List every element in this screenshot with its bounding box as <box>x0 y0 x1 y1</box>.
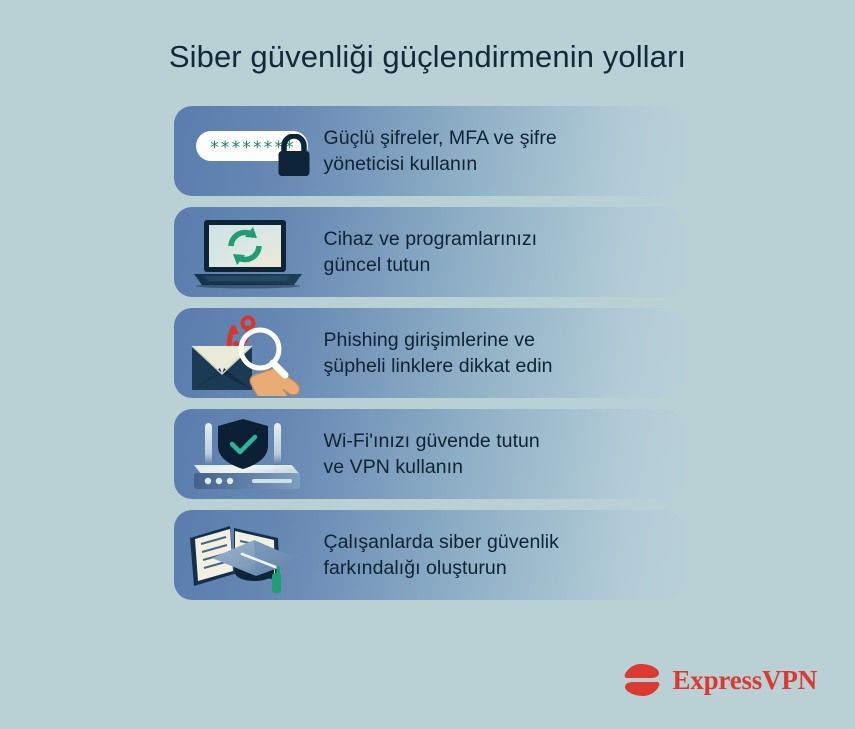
list-item: Wi-Fi'ınızı güvende tutun ve VPN kullanı… <box>174 409 682 499</box>
list-item-label: Cihaz ve programlarınızı güncel tutun <box>324 226 550 279</box>
phishing-email-magnifier-icon <box>174 308 324 398</box>
password-lock-icon: ******** <box>174 106 324 196</box>
lock-icon <box>276 134 312 178</box>
list-item: Cihaz ve programlarınızı güncel tutun <box>174 207 682 297</box>
wifi-router-icon <box>182 415 322 495</box>
list-item: Phishing girişimlerine ve şüpheli linkle… <box>174 308 682 398</box>
envelope-hook-magnifier-icon <box>182 312 322 396</box>
laptop-update-icon <box>174 207 324 297</box>
page-title: Siber güvenliği güçlendirmenin yolları <box>0 0 855 75</box>
open-book-cap-icon <box>182 516 322 596</box>
expressvpn-wordmark: ExpressVPN <box>672 665 817 696</box>
list-item-label: Phishing girişimlerine ve şüpheli linkle… <box>324 327 565 380</box>
list-item: Çalışanlarda siber güvenlik farkındalığı… <box>174 510 682 600</box>
list-item-label: Çalışanlarda siber güvenlik farkındalığı… <box>324 529 571 582</box>
list-item-label: Güçlü şifreler, MFA ve şifre yöneticisi … <box>324 125 569 178</box>
tips-list: ******** Güçlü şifreler, MFA ve şifre yö… <box>0 106 855 600</box>
list-item-label: Wi-Fi'ınızı güvende tutun ve VPN kullanı… <box>324 428 552 481</box>
expressvpn-logo: ExpressVPN <box>621 663 817 697</box>
expressvpn-e-mark-icon <box>621 663 663 697</box>
laptop-icon <box>190 217 308 289</box>
list-item: ******** Güçlü şifreler, MFA ve şifre yö… <box>174 106 682 196</box>
book-graduation-cap-icon <box>174 510 324 600</box>
router-shield-icon <box>174 409 324 499</box>
